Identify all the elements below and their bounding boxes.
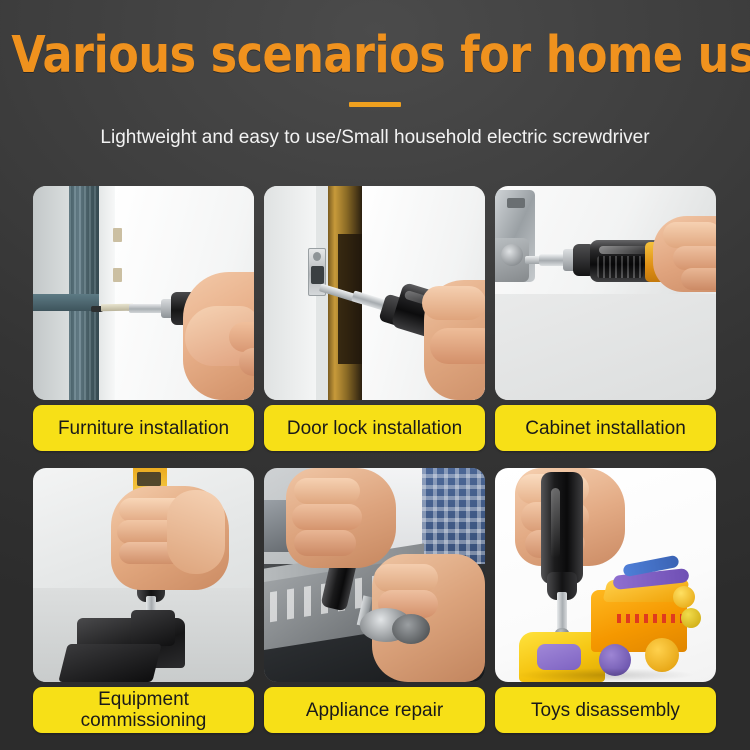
scenario-photo-toys-disassembly: [495, 468, 716, 682]
scenario-card-toys-disassembly[interactable]: Toys disassembly: [495, 468, 716, 733]
scenario-photo-furniture-installation: [33, 186, 254, 400]
hinge-cup: [501, 244, 523, 266]
cabinet-shadow: [495, 294, 716, 400]
divider-wrap: [0, 94, 750, 112]
equipment-bracket: [131, 610, 175, 646]
door-edge: [99, 186, 115, 400]
hinge-upper: [113, 228, 122, 242]
header: Various scenarios for home use Lightweig…: [0, 0, 750, 150]
wall-left: [33, 186, 69, 400]
screwdriver-shaft: [557, 592, 567, 632]
finger-four: [374, 564, 438, 592]
product-infographic: Various scenarios for home use Lightweig…: [0, 0, 750, 750]
title-divider: [349, 102, 401, 107]
hinge-lower: [113, 268, 122, 282]
trim-band: [33, 294, 99, 311]
toy-truck-cap-two: [681, 608, 701, 628]
finger-three: [294, 530, 356, 556]
scenario-photo-door-lock-installation: [264, 186, 485, 400]
scenario-card-door-lock-installation[interactable]: Door lock installation: [264, 186, 485, 451]
appliance-knob-secondary: [392, 614, 430, 644]
finger-one: [663, 222, 716, 248]
hinge-slot: [507, 198, 525, 208]
screwdriver-grip-ridges: [597, 256, 643, 278]
scenario-label[interactable]: Toys disassembly: [495, 687, 716, 733]
middle-finger: [430, 328, 485, 364]
strike-plate-slot: [311, 266, 324, 284]
page-subtitle: Lightweight and easy to use/Small househ…: [0, 126, 750, 150]
scenario-card-appliance-repair[interactable]: Appliance repair: [264, 468, 485, 733]
scenario-label[interactable]: Appliance repair: [264, 687, 485, 733]
toy-truck-cap-one: [673, 586, 695, 608]
finger-two: [673, 246, 716, 270]
scenario-card-cabinet-installation[interactable]: Cabinet installation: [495, 186, 716, 451]
thumb: [167, 490, 225, 574]
page-title: Various scenarios for home use: [11, 28, 739, 84]
equipment-base: [58, 644, 161, 682]
scenario-label[interactable]: Cabinet installation: [495, 405, 716, 451]
scenario-label[interactable]: Door lock installation: [264, 405, 485, 451]
scenario-photo-appliance-repair: [264, 468, 485, 682]
body-highlight: [551, 488, 560, 558]
scenario-card-furniture-installation[interactable]: Furniture installation: [33, 186, 254, 451]
finger-three: [681, 268, 716, 290]
toy-truck-decal: [617, 614, 683, 623]
strike-plate-hole: [313, 252, 321, 261]
toy-truck-wheel-rear: [645, 638, 679, 672]
scenario-card-equipment-commissioning[interactable]: Equipment commissioning: [33, 468, 254, 733]
index-finger: [422, 286, 485, 320]
finger-one: [294, 478, 360, 504]
brand-mark: [137, 472, 161, 486]
toy-truck-window: [537, 644, 581, 670]
scenario-photo-equipment-commissioning: [33, 468, 254, 682]
scenario-label[interactable]: Furniture installation: [33, 405, 254, 451]
scenario-grid: Furniture installation: [33, 186, 717, 733]
wood-grain: [69, 186, 99, 400]
scenario-photo-cabinet-installation: [495, 186, 716, 400]
finger-two: [292, 504, 362, 530]
toy-shadow: [515, 668, 695, 682]
scenario-label[interactable]: Equipment commissioning: [33, 687, 254, 733]
screwdriver-body: [541, 472, 583, 584]
screwdriver-shaft: [129, 304, 165, 313]
